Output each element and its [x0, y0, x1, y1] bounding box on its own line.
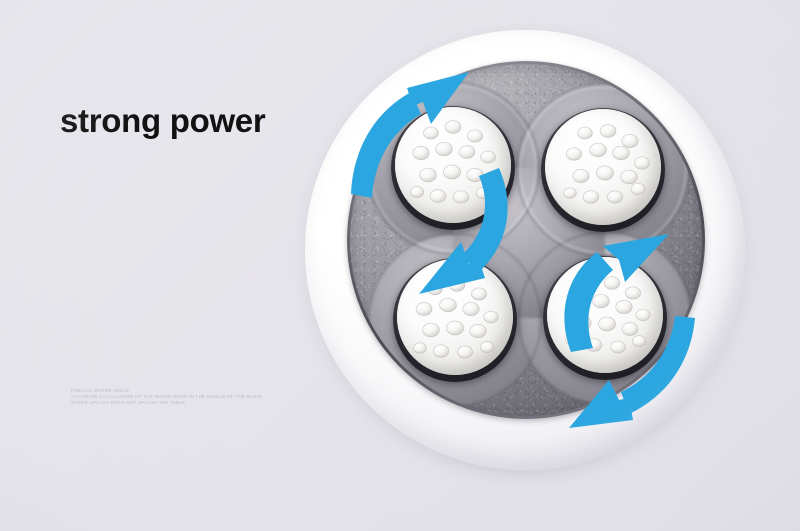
product-image	[303, 28, 747, 472]
roller-nubs-icon	[545, 109, 661, 225]
fine-print-block: PRECISE WATER ANGLE ACCURATE CALCULATION…	[71, 388, 311, 407]
roller-disc	[547, 257, 663, 373]
roller-top-right	[541, 108, 665, 232]
roller-disc	[545, 109, 661, 225]
roller-bottom-right	[543, 256, 667, 380]
roller-nubs-icon	[397, 259, 513, 375]
roller-disc	[397, 259, 513, 375]
roller-top-left	[391, 106, 515, 230]
roller-nubs-icon	[547, 257, 663, 373]
roller-bottom-left	[393, 258, 517, 382]
fine-print-line-3: WATER SPLASH DOES NOT SPLASH THE TABLE	[71, 400, 311, 406]
roller-disc	[395, 107, 511, 223]
product-feature-banner: strong power PRECISE WATER ANGLE ACCURAT…	[0, 0, 800, 531]
roller-nubs-icon	[395, 107, 511, 223]
page-title: strong power	[60, 103, 265, 139]
